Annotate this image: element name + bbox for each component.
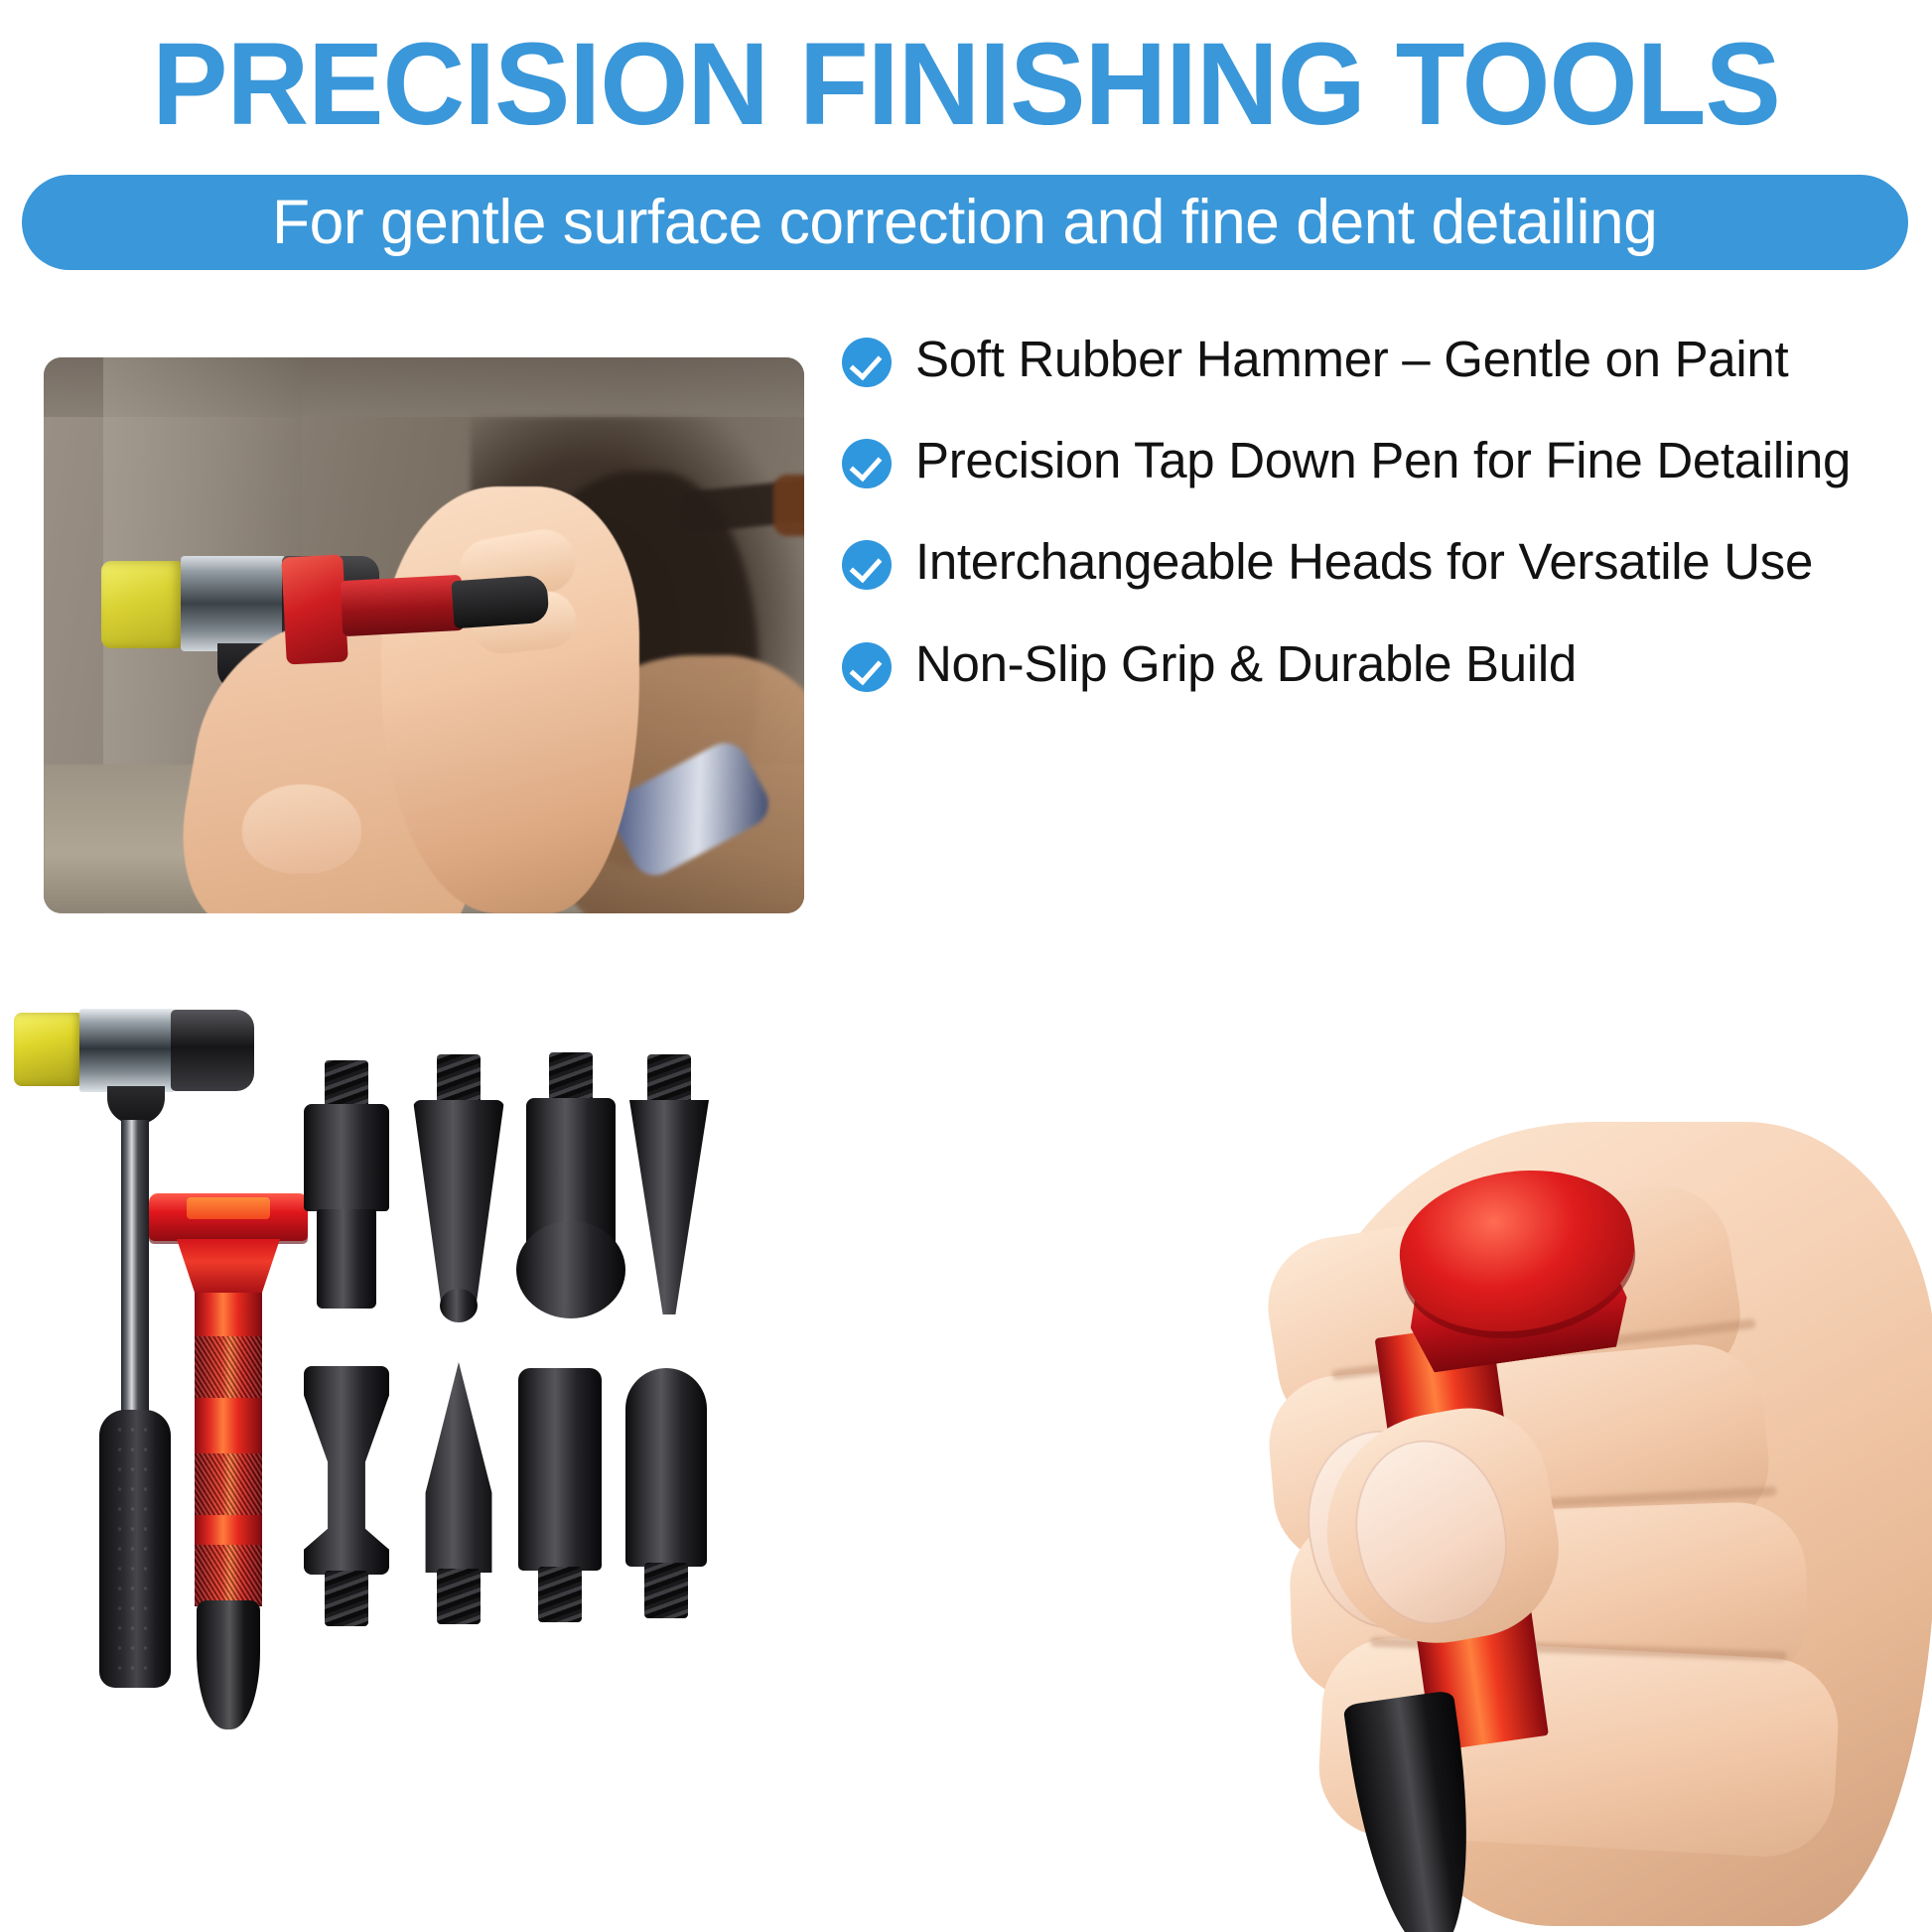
tip-thread: [325, 1571, 368, 1626]
feature-label: Non-Slip Grip & Durable Build: [915, 634, 1577, 694]
pen-knurl-band-3: [195, 1545, 262, 1606]
tip-thread: [538, 1567, 582, 1622]
infographic-page: PRECISION FINISHING TOOLS For gentle sur…: [0, 0, 1932, 1932]
feature-label: Precision Tap Down Pen for Fine Detailin…: [915, 431, 1851, 490]
mallet-chrome-barrel: [79, 1009, 175, 1092]
tip-thread: [325, 1060, 368, 1108]
tool-kit-layout: [0, 1013, 973, 1932]
photo-pen-body: [341, 575, 465, 636]
pen-flange-head: [149, 1193, 308, 1241]
mallet-neck: [107, 1086, 165, 1124]
mallet-grip: [99, 1410, 171, 1688]
ball-end-tip: [516, 1052, 625, 1314]
subtitle-banner: For gentle surface correction and fine d…: [22, 175, 1908, 270]
tip-thread: [437, 1054, 481, 1104]
mallet-chrome-barrel: [181, 556, 286, 651]
mallet-yellow-face: [101, 561, 183, 648]
domed-cap-tip: [625, 1368, 707, 1626]
sharp-cone-tip: [629, 1054, 709, 1314]
check-circle-icon: [842, 540, 892, 590]
subtitle-text: For gentle surface correction and fine d…: [272, 187, 1657, 258]
hand-holding-red-tap-down-pen-photo: [973, 1003, 1932, 1932]
photo-pen-head: [281, 554, 348, 664]
mallet-shaft: [121, 1120, 149, 1418]
pointed-chisel-tip: [415, 1362, 502, 1626]
tip-thread: [647, 1054, 691, 1104]
check-circle-icon: [842, 439, 892, 488]
feature-label: Soft Rubber Hammer – Gentle on Paint: [915, 330, 1788, 389]
stepped-flat-tip: [304, 1060, 389, 1309]
tip-thread: [437, 1569, 481, 1624]
tapered-round-tip: [413, 1054, 504, 1312]
tip-ball-end: [516, 1221, 625, 1318]
tip-upper-body: [304, 1104, 389, 1211]
left-thumb: [242, 784, 361, 874]
mallet-yellow-face: [14, 1013, 81, 1086]
feature-item-soft-rubber-hammer: Soft Rubber Hammer – Gentle on Paint: [842, 330, 1920, 389]
tip-cone-body: [629, 1100, 709, 1314]
tip-round-point: [440, 1289, 478, 1322]
pen-knurl-band-2: [195, 1453, 262, 1515]
feature-label: Interchangeable Heads for Versatile Use: [915, 532, 1813, 592]
tool-shadow-knob: [773, 475, 804, 536]
tip-cylinder-body: [518, 1368, 602, 1571]
tip-cone-body: [413, 1100, 504, 1312]
feature-item-precision-tap-down-pen: Precision Tap Down Pen for Fine Detailin…: [842, 431, 1920, 490]
tip-lower-step: [317, 1209, 376, 1309]
check-circle-icon: [842, 642, 892, 692]
flat-cylinder-tip: [518, 1368, 602, 1628]
page-title: PRECISION FINISHING TOOLS: [29, 26, 1903, 143]
feature-item-non-slip-grip: Non-Slip Grip & Durable Build: [842, 634, 1920, 694]
hand-holding-hammer-and-tap-down-pen-photo: [44, 357, 804, 913]
pen-black-tip: [197, 1600, 260, 1729]
tip-chisel-body: [415, 1362, 502, 1573]
mallet-black-face: [171, 1010, 254, 1091]
tip-hourglass-body: [304, 1366, 389, 1575]
check-circle-icon: [842, 338, 892, 387]
photo-pen-tip: [451, 575, 549, 629]
tip-dome-body: [625, 1368, 707, 1567]
pen-knurl-band-1: [195, 1336, 262, 1398]
tip-thread: [549, 1052, 593, 1102]
feature-item-interchangeable-heads: Interchangeable Heads for Versatile Use: [842, 532, 1920, 592]
pen-shoulder: [177, 1239, 280, 1295]
hourglass-tip: [304, 1366, 389, 1626]
feature-list: Soft Rubber Hammer – Gentle on Paint Pre…: [842, 330, 1920, 736]
tip-thread: [644, 1563, 688, 1618]
